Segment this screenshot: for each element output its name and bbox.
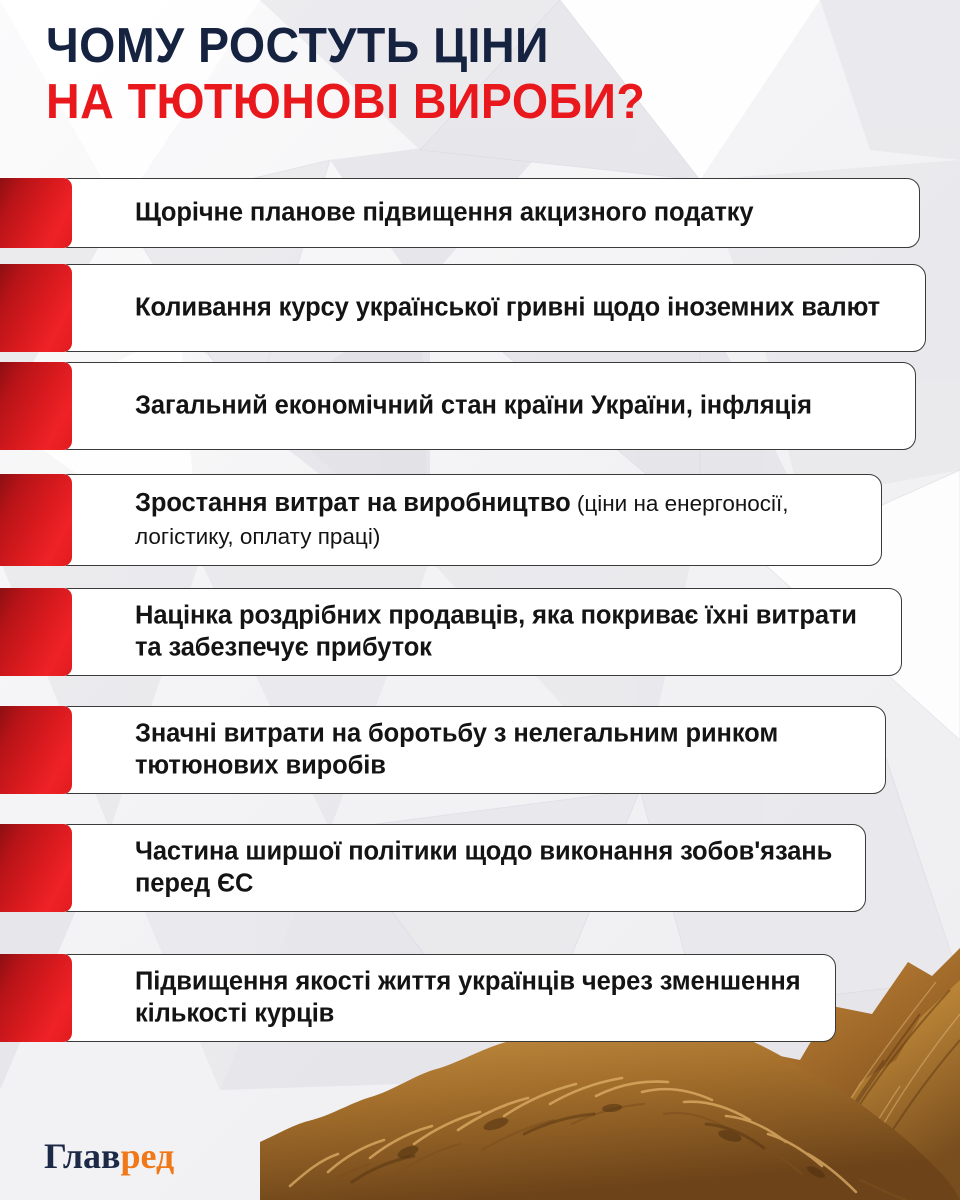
reason-card: Щорічне планове підвищення акцизного под… (56, 178, 920, 248)
logo-text-primary: Глав (44, 1136, 120, 1176)
reason-text: Коливання курсу української гривні щодо … (135, 292, 907, 325)
list-item: Частина ширшої політики щодо виконання з… (0, 824, 866, 912)
reason-text: Зростання витрат на виробництво (ціни на… (135, 487, 863, 553)
red-marker-tab (0, 954, 72, 1042)
reason-card: Зростання витрат на виробництво (ціни на… (56, 474, 882, 566)
page-title: ЧОМУ РОСТУТЬ ЦІНИ НА ТЮТЮНОВІ ВИРОБИ? (46, 18, 926, 130)
reason-text-main: Загальний економічний стан країни Україн… (135, 392, 812, 420)
reason-text-main: Коливання курсу української гривні щодо … (135, 294, 880, 322)
reason-text: Націнка роздрібних продавців, яка покрив… (135, 600, 883, 665)
reason-text: Загальний економічний стан країни Україн… (135, 390, 897, 423)
logo-text-accent: ред (120, 1136, 174, 1176)
list-item: Зростання витрат на виробництво (ціни на… (0, 474, 882, 566)
reason-text-main: Зростання витрат на виробництво (135, 489, 571, 517)
reason-card: Частина ширшої політики щодо виконання з… (56, 824, 866, 912)
red-marker-tab (0, 362, 72, 450)
red-marker-tab (0, 824, 72, 912)
reason-card: Підвищення якості життя українців через … (56, 954, 836, 1042)
title-line-secondary: НА ТЮТЮНОВІ ВИРОБИ? (46, 74, 882, 130)
reason-text: Значні витрати на боротьбу з нелегальним… (135, 718, 867, 783)
list-item: Значні витрати на боротьбу з нелегальним… (0, 706, 886, 794)
reason-text-main: Щорічне планове підвищення акцизного под… (135, 199, 754, 227)
reason-card: Значні витрати на боротьбу з нелегальним… (56, 706, 886, 794)
reason-text: Щорічне планове підвищення акцизного под… (135, 197, 901, 230)
title-line-primary: ЧОМУ РОСТУТЬ ЦІНИ (46, 18, 882, 74)
reason-card: Коливання курсу української гривні щодо … (56, 264, 926, 352)
reason-text-main: Значні витрати на боротьбу з нелегальним… (135, 720, 778, 780)
red-marker-tab (0, 588, 72, 676)
reason-text-main: Частина ширшої політики щодо виконання з… (135, 838, 832, 898)
list-item: Підвищення якості життя українців через … (0, 954, 836, 1042)
red-marker-tab (0, 706, 72, 794)
red-marker-tab (0, 474, 72, 566)
glavred-logo[interactable]: Главред (44, 1136, 174, 1176)
reason-text-main: Підвищення якості життя українців через … (135, 968, 801, 1028)
reason-text: Частина ширшої політики щодо виконання з… (135, 836, 847, 901)
list-item: Коливання курсу української гривні щодо … (0, 264, 926, 352)
reason-card: Націнка роздрібних продавців, яка покрив… (56, 588, 902, 676)
red-marker-tab (0, 178, 72, 248)
list-item: Загальний економічний стан країни Україн… (0, 362, 916, 450)
reason-card: Загальний економічний стан країни Україн… (56, 362, 916, 450)
reason-text: Підвищення якості життя українців через … (135, 966, 817, 1031)
red-marker-tab (0, 264, 72, 352)
infographic-canvas: ЧОМУ РОСТУТЬ ЦІНИ НА ТЮТЮНОВІ ВИРОБИ? (0, 0, 960, 1200)
reason-text-main: Націнка роздрібних продавців, яка покрив… (135, 602, 857, 662)
list-item: Щорічне планове підвищення акцизного под… (0, 178, 920, 248)
list-item: Націнка роздрібних продавців, яка покрив… (0, 588, 902, 676)
